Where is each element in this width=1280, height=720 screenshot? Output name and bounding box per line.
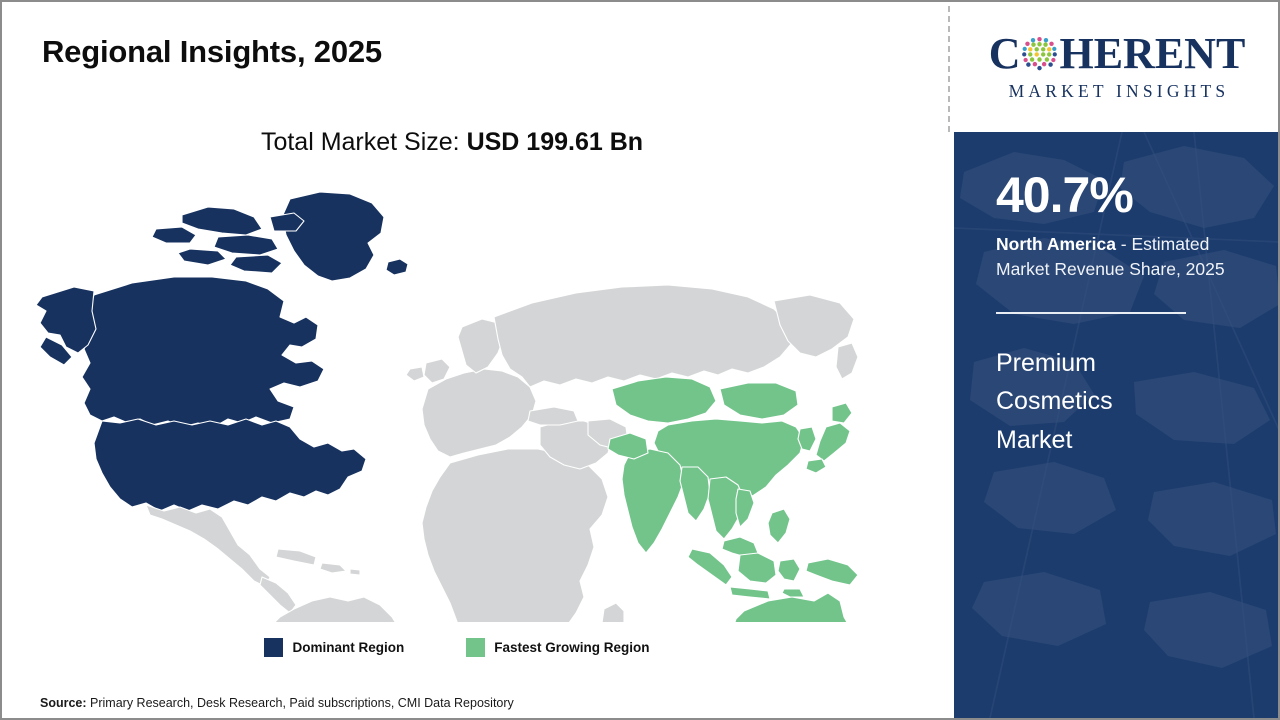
region-cuba (276, 549, 316, 565)
source-label: Source: (40, 696, 87, 710)
region-sumatra (688, 549, 732, 585)
region-canada-arctic-5 (230, 255, 282, 273)
region-canada-arctic-6 (178, 249, 226, 265)
page-title: Regional Insights, 2025 (42, 34, 382, 70)
share-description: North America - Estimated Market Revenue… (996, 232, 1250, 282)
region-greenland (282, 192, 384, 281)
legend-label-fastest-growing: Fastest Growing Region (494, 640, 649, 655)
legend-item-fastest-growing: Fastest Growing Region (466, 638, 649, 657)
brand-logo[interactable]: C (954, 2, 1280, 132)
region-mexico (146, 505, 270, 587)
world-map-svg (32, 177, 892, 622)
region-mongolia (720, 383, 798, 419)
region-philippines (768, 509, 790, 543)
dotted-globe-icon (1021, 35, 1058, 72)
region-canada-arctic-1 (182, 207, 262, 235)
stat-divider (996, 312, 1186, 314)
region-borneo (738, 553, 776, 583)
region-canada (82, 277, 324, 427)
region-africa (422, 449, 608, 622)
stat-panel: 40.7% North America - Estimated Market R… (954, 132, 1280, 718)
region-europe-west (422, 369, 536, 457)
legend-swatch-dominant (264, 638, 283, 657)
market-name: Premium Cosmetics Market (996, 344, 1196, 460)
region-central-america (260, 577, 296, 613)
region-japan-north (832, 403, 852, 423)
map-panel: Regional Insights, 2025 Total Market Siz… (2, 2, 950, 718)
logo-letters-rest: HERENT (1059, 32, 1245, 76)
region-myanmar (680, 467, 710, 521)
stat-content: 40.7% North America - Estimated Market R… (954, 132, 1280, 460)
legend-item-dominant: Dominant Region (264, 638, 404, 657)
region-canada-arctic-3 (152, 227, 196, 243)
logo-wordmark: C (989, 32, 1246, 76)
source-note: Source: Primary Research, Desk Research,… (40, 696, 514, 710)
region-russia (494, 285, 792, 387)
legend-label-dominant: Dominant Region (292, 640, 404, 655)
map-legend: Dominant Region Fastest Growing Region (2, 638, 912, 657)
infographic-frame: Regional Insights, 2025 Total Market Siz… (0, 0, 1280, 720)
region-turkey (528, 407, 578, 425)
region-uk-ireland (406, 367, 424, 381)
logo-subtitle: MARKET INSIGHTS (1005, 81, 1230, 102)
sidebar: C (954, 2, 1280, 718)
region-hispaniola (320, 563, 346, 573)
region-iceland (386, 259, 408, 275)
share-region-name: North America (996, 234, 1116, 254)
logo-letter-c: C (989, 32, 1021, 76)
region-java (730, 587, 770, 599)
source-text: Primary Research, Desk Research, Paid su… (87, 696, 514, 710)
market-size-label: Total Market Size: (261, 128, 467, 156)
region-puerto-rico (350, 569, 360, 575)
region-vietnam (736, 489, 754, 527)
region-kamchatka (836, 343, 858, 379)
region-madagascar (602, 603, 624, 622)
region-united-states (94, 419, 366, 511)
region-kazakhstan (612, 377, 716, 423)
region-sulawesi (778, 559, 800, 581)
world-map (32, 177, 892, 622)
region-japan-south (806, 459, 826, 473)
legend-swatch-fastest-growing (466, 638, 485, 657)
total-market-size: Total Market Size: USD 199.61 Bn (2, 128, 902, 157)
share-percentage: 40.7% (996, 170, 1250, 220)
market-size-value: USD 199.61 Bn (467, 128, 643, 156)
region-papua-new-guinea (806, 559, 858, 585)
region-canada-arctic-2 (214, 235, 278, 255)
region-japan-main (816, 423, 850, 461)
panel-divider (948, 6, 950, 132)
region-india (622, 449, 684, 553)
region-timor (782, 589, 804, 597)
